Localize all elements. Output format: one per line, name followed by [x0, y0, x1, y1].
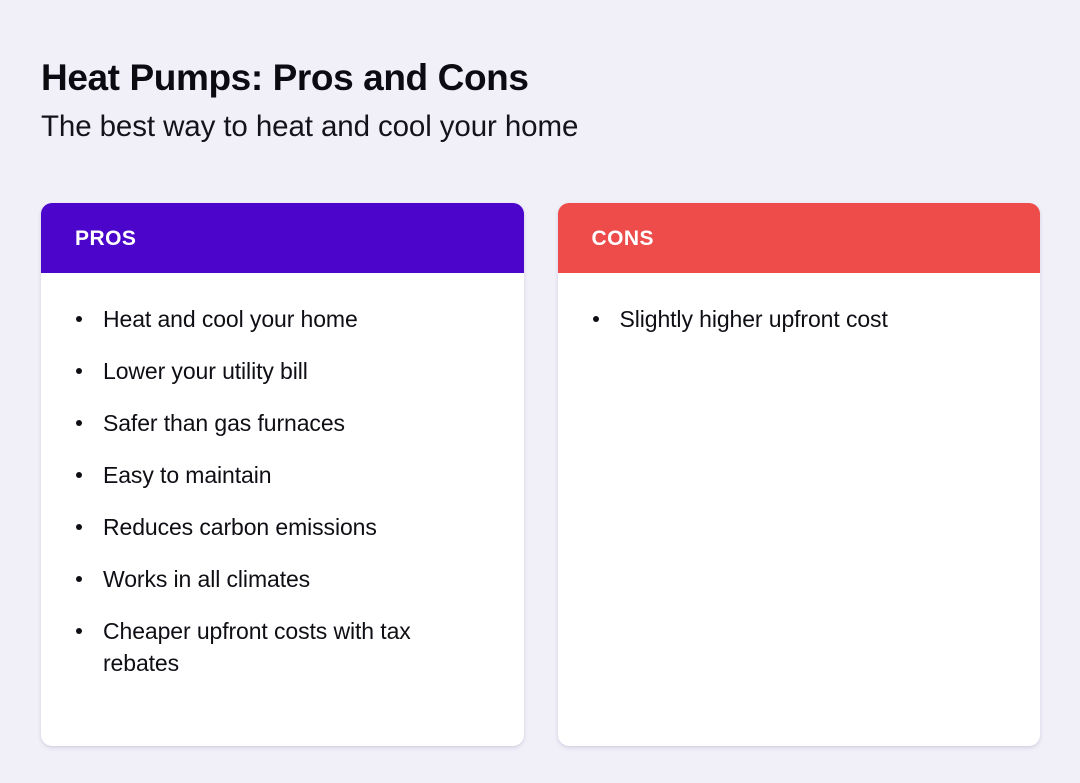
cons-card-header-label: CONS	[592, 228, 654, 249]
list-item: Works in all climates	[67, 563, 498, 595]
list-item-text: Heat and cool your home	[103, 303, 473, 335]
bullet-dot-icon	[593, 316, 599, 322]
cons-card-header: CONS	[558, 203, 1041, 273]
list-item: Heat and cool your home	[67, 303, 498, 335]
cons-bullet-list: Slightly higher upfront cost	[584, 303, 1015, 335]
list-item-text: Safer than gas furnaces	[103, 407, 473, 439]
bullet-dot-icon	[76, 628, 82, 634]
pros-card: PROS Heat and cool your home Lower your …	[41, 203, 524, 746]
page-subtitle: The best way to heat and cool your home	[41, 107, 991, 147]
list-item-text: Reduces carbon emissions	[103, 511, 473, 543]
comparison-cards: PROS Heat and cool your home Lower your …	[41, 203, 1040, 746]
cons-card-body: Slightly higher upfront cost	[558, 273, 1041, 746]
list-item: Reduces carbon emissions	[67, 511, 498, 543]
bullet-dot-icon	[76, 472, 82, 478]
cons-card: CONS Slightly higher upfront cost	[558, 203, 1041, 746]
pros-card-header: PROS	[41, 203, 524, 273]
page-title: Heat Pumps: Pros and Cons	[41, 55, 991, 101]
list-item: Lower your utility bill	[67, 355, 498, 387]
list-item: Cheaper upfront costs with tax rebates	[67, 615, 498, 679]
pros-card-body: Heat and cool your home Lower your utili…	[41, 273, 524, 746]
list-item-text: Lower your utility bill	[103, 355, 473, 387]
header-block: Heat Pumps: Pros and Cons The best way t…	[41, 55, 991, 147]
bullet-dot-icon	[76, 316, 82, 322]
bullet-dot-icon	[76, 368, 82, 374]
list-item: Safer than gas furnaces	[67, 407, 498, 439]
list-item: Easy to maintain	[67, 459, 498, 491]
list-item-text: Works in all climates	[103, 563, 473, 595]
list-item-text: Easy to maintain	[103, 459, 473, 491]
bullet-dot-icon	[76, 524, 82, 530]
list-item: Slightly higher upfront cost	[584, 303, 1015, 335]
pros-bullet-list: Heat and cool your home Lower your utili…	[67, 303, 498, 679]
list-item-text: Cheaper upfront costs with tax rebates	[103, 615, 473, 679]
pros-card-header-label: PROS	[75, 228, 136, 249]
pros-and-cons-infographic: Heat Pumps: Pros and Cons The best way t…	[0, 0, 1080, 783]
bullet-dot-icon	[76, 420, 82, 426]
bullet-dot-icon	[76, 576, 82, 582]
list-item-text: Slightly higher upfront cost	[620, 303, 990, 335]
